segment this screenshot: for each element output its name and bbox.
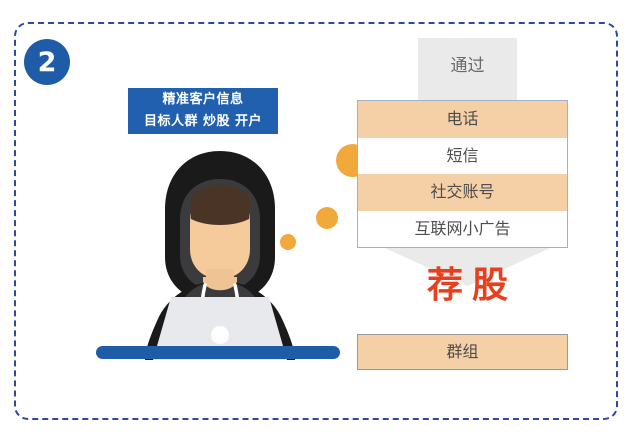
channel-label: 互联网小广告 [414, 221, 510, 237]
channel-label: 社交账号 [430, 184, 494, 200]
desk-bar [96, 346, 340, 359]
stock-promotion-headline: 荐股 [385, 268, 550, 304]
channel-row-sms[interactable]: 短信 [358, 138, 567, 175]
orange-dot-medium-icon [316, 207, 338, 229]
channel-list: 电话 短信 社交账号 互联网小广告 [357, 100, 568, 248]
target-info-caption-box: 精准客户信息 目标人群 炒股 开户 [128, 88, 278, 134]
channel-label: 电话 [446, 111, 478, 127]
channel-label: 短信 [446, 148, 478, 164]
hacker-illustration [95, 145, 345, 360]
laptop-logo [211, 326, 229, 344]
channel-row-internet-ads[interactable]: 互联网小广告 [358, 211, 567, 248]
channel-row-phone[interactable]: 电话 [358, 101, 567, 138]
orange-dot-small-icon [280, 234, 296, 250]
caption-line-2: 目标人群 炒股 开户 [144, 112, 262, 132]
group-box[interactable]: 群组 [357, 334, 568, 370]
caption-line-1: 精准客户信息 [162, 90, 243, 110]
group-label: 群组 [446, 344, 478, 360]
step-number-label: 2 [38, 49, 57, 76]
eye-visor [191, 185, 249, 225]
channel-row-social-account[interactable]: 社交账号 [358, 174, 567, 211]
step-number-badge: 2 [24, 39, 70, 85]
through-label: 通过 [385, 58, 550, 75]
